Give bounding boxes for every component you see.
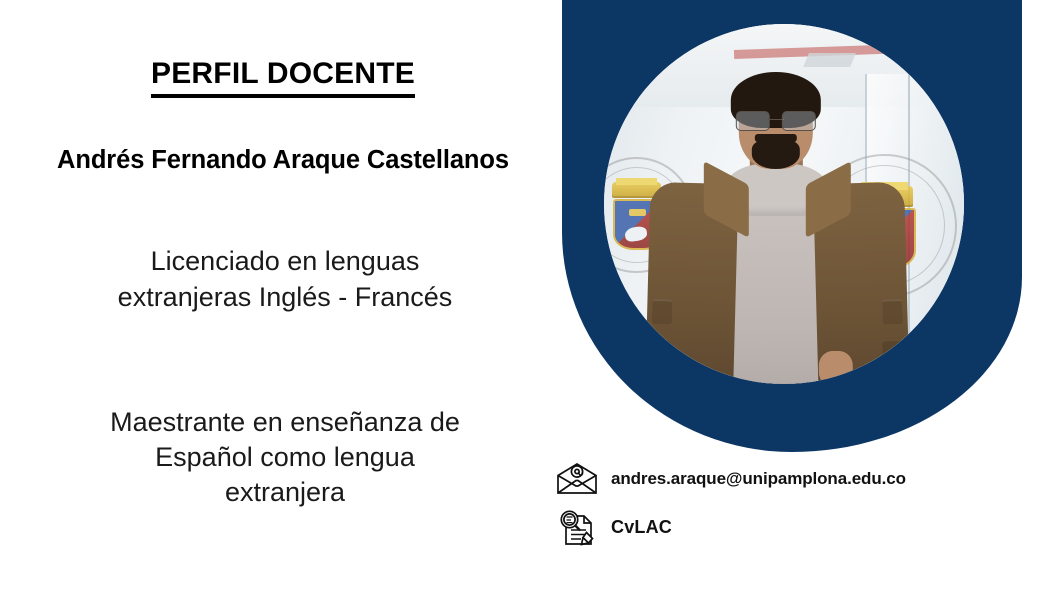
contact-list: andres.araque@unipamplona.edu.co CvLAC: [549, 455, 1009, 551]
masters-line-3: extranjera: [20, 475, 550, 510]
profile-text-column: PERFIL DOCENTE Andrés Fernando Araque Ca…: [0, 0, 566, 600]
person-name: Andrés Fernando Araque Castellanos: [0, 146, 566, 175]
email-address-text: andres.araque@unipamplona.edu.co: [605, 469, 906, 489]
glasses-lens-right: [782, 111, 816, 130]
person-pocket: [883, 340, 905, 366]
person-hand: [819, 351, 854, 384]
masters-description: Maestrante en enseñanza de Español como …: [20, 405, 550, 510]
glasses-lens-left: [736, 111, 770, 130]
contact-row-cvlac[interactable]: CvLAC: [549, 503, 1009, 551]
person-glasses-icon: [736, 111, 816, 128]
person-pocket: [652, 298, 672, 323]
person-pocket: [650, 340, 672, 366]
profile-photo: [604, 24, 964, 384]
masters-line-1: Maestrante en enseñanza de: [20, 405, 550, 440]
masters-line-2: Español como lengua: [20, 440, 550, 475]
person-pocket: [882, 298, 903, 323]
page-title: PERFIL DOCENTE: [0, 57, 566, 98]
degree-line-2: extranjeras Inglés - Francés: [20, 280, 550, 316]
contact-row-email[interactable]: andres.araque@unipamplona.edu.co: [549, 455, 1009, 503]
cvlac-label-text: CvLAC: [605, 517, 672, 538]
email-envelope-at-icon: [549, 462, 605, 496]
teacher-profile-slide: PERFIL DOCENTE Andrés Fernando Araque Ca…: [0, 0, 1050, 600]
document-search-cvlac-icon: [549, 507, 605, 547]
person-figure: [643, 60, 909, 384]
degree-description: Licenciado en lenguas extranjeras Inglés…: [20, 244, 550, 315]
degree-line-1: Licenciado en lenguas: [20, 244, 550, 280]
page-title-text: PERFIL DOCENTE: [151, 57, 415, 98]
